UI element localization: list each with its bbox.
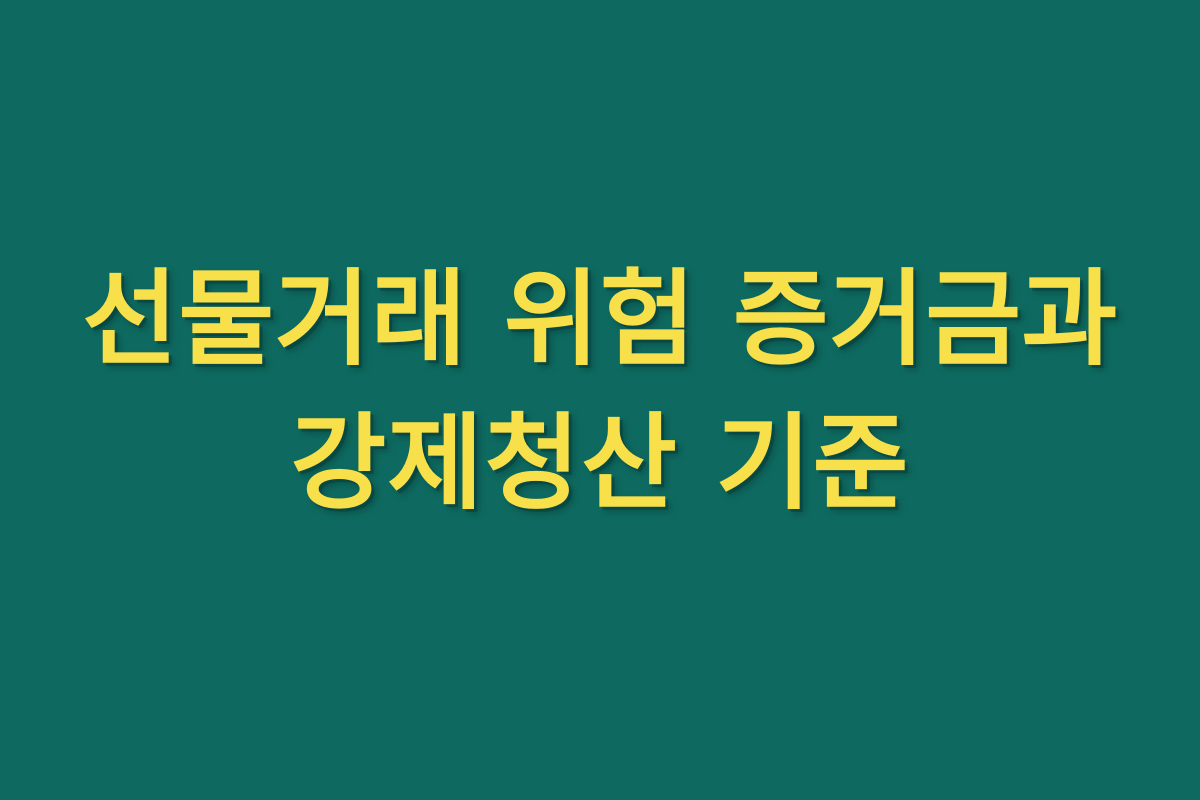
title-line-2: 강제청산 기준: [0, 392, 1200, 536]
title-line-1: 선물거래 위험 증거금과: [0, 248, 1200, 392]
page-title: 선물거래 위험 증거금과 강제청산 기준: [0, 248, 1200, 535]
title-banner: 선물거래 위험 증거금과 강제청산 기준: [0, 0, 1200, 800]
